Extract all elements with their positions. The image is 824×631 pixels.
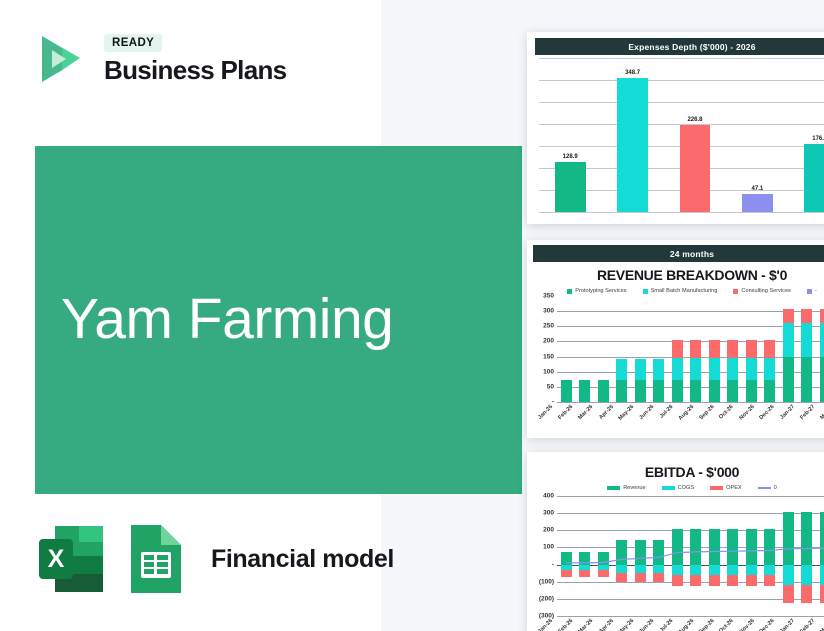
bar-segment bbox=[635, 380, 646, 402]
footer-label: Financial model bbox=[211, 545, 394, 574]
bar-segment bbox=[764, 565, 775, 576]
legend-label: Consulting Services bbox=[741, 288, 790, 294]
bar-segment bbox=[727, 380, 738, 402]
bar-segment bbox=[727, 575, 738, 586]
bar-column bbox=[798, 496, 817, 616]
legend-swatch bbox=[807, 289, 812, 294]
bar-segment bbox=[764, 340, 775, 358]
bar-column bbox=[687, 296, 706, 402]
bar-column bbox=[724, 296, 743, 402]
y-tick-label: 300 bbox=[543, 308, 554, 315]
expenses-bars: 128.9348.7226.847.1176.5 bbox=[539, 58, 824, 212]
chart-card-revenue: 24 months REVENUE BREAKDOWN - $'0 Protot… bbox=[527, 240, 824, 438]
y-tick-label: (100) bbox=[539, 578, 554, 585]
bar-segment bbox=[709, 358, 720, 380]
expenses-plot-area: 128.9348.7226.847.1176.5 bbox=[535, 58, 824, 212]
bar-segment bbox=[616, 540, 627, 565]
legend-swatch bbox=[733, 289, 738, 294]
bar-column: 348.7 bbox=[608, 58, 658, 212]
bar-segment bbox=[746, 575, 757, 586]
bar-column bbox=[576, 296, 595, 402]
revenue-bars bbox=[557, 296, 824, 402]
bar-segment bbox=[579, 570, 590, 577]
x-tick-wrap: Jan-26 bbox=[531, 618, 551, 631]
bar-segment bbox=[616, 359, 627, 380]
bar-segment bbox=[672, 380, 683, 402]
bar-segment bbox=[801, 585, 812, 603]
bar-value-label: 226.8 bbox=[687, 117, 702, 123]
bar-segment bbox=[801, 565, 812, 585]
legend-item: Small Batch Manufacturing bbox=[643, 288, 718, 294]
bar-column bbox=[742, 296, 761, 402]
bar-segment bbox=[561, 570, 572, 577]
svg-text:X: X bbox=[48, 545, 65, 573]
bar-segment bbox=[672, 340, 683, 358]
bar-segment bbox=[746, 340, 757, 358]
brand-logo-block: READY Business Plans bbox=[28, 28, 286, 90]
y-tick-label: 250 bbox=[543, 323, 554, 330]
bar-segment bbox=[746, 358, 757, 380]
bar-segment bbox=[727, 358, 738, 380]
expenses-chart-title: Expenses Depth ($'000) - 2026 bbox=[535, 38, 824, 55]
bar-segment bbox=[783, 565, 794, 585]
legend-label: Revenue bbox=[623, 485, 645, 491]
y-tick-label: 100 bbox=[543, 368, 554, 375]
revenue-band-label: 24 months bbox=[533, 245, 824, 262]
ready-badge: READY bbox=[104, 34, 162, 52]
bar-segment bbox=[820, 512, 824, 565]
y-tick-label: 100 bbox=[543, 544, 554, 551]
bar-column bbox=[613, 296, 632, 402]
legend-swatch bbox=[607, 486, 620, 490]
bar-column bbox=[613, 496, 632, 616]
ebitda-legend: RevenueCOGSOPEX0 bbox=[527, 482, 824, 493]
bar-segment bbox=[709, 380, 720, 402]
bar-segment bbox=[709, 565, 720, 576]
bar-segment bbox=[727, 565, 738, 576]
y-tick-label: 150 bbox=[543, 353, 554, 360]
legend-label: - bbox=[815, 288, 817, 294]
chart-card-ebitda: EBITDA - $'000 RevenueCOGSOPEX0 40030020… bbox=[527, 452, 824, 631]
bar-segment bbox=[820, 323, 824, 356]
bar-column bbox=[705, 496, 724, 616]
legend-label: COGS bbox=[678, 485, 694, 491]
bar-column bbox=[631, 296, 650, 402]
bar-segment bbox=[672, 358, 683, 380]
bar-segment bbox=[746, 565, 757, 576]
bar-segment bbox=[764, 380, 775, 402]
bar bbox=[555, 162, 586, 212]
play-triangle-logo-icon bbox=[28, 28, 90, 90]
legend-item: OPEX bbox=[710, 485, 742, 491]
bar-value-label: 128.9 bbox=[563, 154, 578, 160]
bar-column bbox=[576, 496, 595, 616]
bar-segment bbox=[801, 309, 812, 324]
bar bbox=[617, 78, 648, 212]
bar bbox=[742, 194, 773, 212]
ebitda-bars bbox=[557, 496, 824, 616]
bar-segment bbox=[653, 380, 664, 402]
bar-column bbox=[724, 496, 743, 616]
bar-segment bbox=[616, 573, 627, 582]
y-tick-label: 200 bbox=[543, 338, 554, 345]
bar-value-label: 176.5 bbox=[812, 136, 824, 142]
bar-segment bbox=[635, 540, 646, 565]
bar-segment bbox=[635, 565, 646, 573]
bar-segment bbox=[690, 529, 701, 564]
bar-segment bbox=[561, 552, 572, 564]
bar-segment bbox=[690, 340, 701, 358]
legend-swatch bbox=[758, 487, 771, 489]
bar-segment bbox=[764, 575, 775, 586]
y-tick-label: 300 bbox=[543, 510, 554, 517]
bar-segment bbox=[653, 359, 664, 380]
brand-name: Business Plans bbox=[104, 57, 286, 84]
bar-segment bbox=[672, 575, 683, 586]
legend-swatch bbox=[662, 486, 675, 490]
bar-column bbox=[742, 496, 761, 616]
gridline bbox=[539, 212, 824, 213]
bar-column bbox=[650, 496, 669, 616]
bar-segment bbox=[727, 529, 738, 564]
bar-segment bbox=[709, 529, 720, 564]
legend-swatch bbox=[567, 289, 572, 294]
bar-column bbox=[594, 296, 613, 402]
bar-segment bbox=[801, 357, 812, 402]
revenue-y-axis: 35030025020015010050- bbox=[531, 296, 557, 402]
legend-item: Revenue bbox=[607, 485, 645, 491]
bar-segment bbox=[820, 585, 824, 603]
bar-segment bbox=[598, 552, 609, 564]
x-tick-wrap: Jan-26 bbox=[531, 404, 551, 434]
y-tick-label: 50 bbox=[547, 383, 554, 390]
bar-segment bbox=[579, 380, 590, 402]
ebitda-plot-area: 400300200100-(100)(200)(300) bbox=[531, 496, 824, 616]
legend-item: COGS bbox=[662, 485, 694, 491]
bar-segment bbox=[672, 565, 683, 576]
bar-segment bbox=[598, 380, 609, 402]
bar-column: 47.1 bbox=[732, 58, 782, 212]
bar-column: 226.8 bbox=[670, 58, 720, 212]
bar-segment bbox=[690, 358, 701, 380]
x-tick-label: Mar-27 bbox=[819, 618, 824, 631]
y-tick-label: 200 bbox=[543, 527, 554, 534]
bar-segment bbox=[598, 570, 609, 577]
bar-segment bbox=[783, 585, 794, 603]
legend-label: 0 bbox=[774, 485, 777, 491]
y-tick-label: - bbox=[552, 561, 554, 568]
chart-card-expenses: Expenses Depth ($'000) - 2026 128.9348.7… bbox=[527, 32, 824, 224]
legend-item: Consulting Services bbox=[733, 288, 790, 294]
ebitda-chart-title: EBITDA - $'000 bbox=[527, 452, 824, 482]
bar-segment bbox=[783, 357, 794, 402]
bar-segment bbox=[690, 380, 701, 402]
bar-column bbox=[687, 496, 706, 616]
bar-segment bbox=[820, 357, 824, 402]
bar-segment bbox=[783, 512, 794, 565]
ebitda-x-axis: Jan-26Feb-26Mar-26Apr-26May-26Jun-26Jul-… bbox=[531, 618, 824, 631]
google-sheets-icon bbox=[125, 522, 187, 596]
legend-label: Small Batch Manufacturing bbox=[651, 288, 718, 294]
bar-segment bbox=[653, 540, 664, 565]
bar-segment bbox=[653, 573, 664, 582]
bar-segment bbox=[764, 358, 775, 380]
bar-column bbox=[557, 496, 576, 616]
legend-swatch bbox=[643, 289, 648, 294]
bar-column bbox=[798, 296, 817, 402]
bar-segment bbox=[579, 552, 590, 564]
bar-column bbox=[761, 496, 780, 616]
bar-column bbox=[594, 496, 613, 616]
bar-segment bbox=[690, 565, 701, 576]
brand-wordmark: READY Business Plans bbox=[104, 34, 286, 84]
legend-item: - bbox=[807, 288, 817, 294]
bar bbox=[804, 144, 824, 212]
bar-column bbox=[631, 496, 650, 616]
legend-swatch bbox=[710, 486, 723, 490]
legend-item: Prototyping Services bbox=[567, 288, 626, 294]
hero-banner: Yam Farming bbox=[35, 146, 522, 494]
bar-segment bbox=[616, 380, 627, 402]
bar-segment bbox=[801, 323, 812, 356]
bar-segment bbox=[801, 512, 812, 565]
y-tick-label: 350 bbox=[543, 293, 554, 300]
page-title: Yam Farming bbox=[35, 290, 393, 350]
bar-value-label: 47.1 bbox=[752, 186, 764, 192]
bar-segment bbox=[653, 565, 664, 573]
bar-column bbox=[761, 296, 780, 402]
revenue-plot-area: 35030025020015010050- bbox=[531, 296, 824, 402]
bar-column bbox=[668, 296, 687, 402]
bar-segment bbox=[709, 340, 720, 358]
bar-column bbox=[816, 296, 824, 402]
bar-segment bbox=[764, 529, 775, 564]
legend-label: OPEX bbox=[726, 485, 742, 491]
bar bbox=[680, 125, 711, 212]
bar-column bbox=[705, 296, 724, 402]
bar-column bbox=[779, 496, 798, 616]
revenue-x-axis: Jan-26Feb-26Mar-26Apr-26May-26Jun-26Jul-… bbox=[531, 404, 824, 434]
bar-segment bbox=[561, 380, 572, 402]
legend-label: Prototyping Services bbox=[575, 288, 626, 294]
bar-column bbox=[650, 296, 669, 402]
bar-segment bbox=[635, 359, 646, 380]
revenue-legend: Prototyping ServicesSmall Batch Manufact… bbox=[527, 285, 824, 296]
bar-column bbox=[557, 296, 576, 402]
bar-segment bbox=[709, 575, 720, 586]
bar-segment bbox=[820, 565, 824, 585]
bar-segment bbox=[746, 380, 757, 402]
bar-column bbox=[816, 496, 824, 616]
y-tick-label: 400 bbox=[543, 493, 554, 500]
bar-segment bbox=[672, 529, 683, 564]
legend-item: 0 bbox=[758, 485, 777, 491]
bar-segment bbox=[727, 340, 738, 358]
y-tick-label: (200) bbox=[539, 595, 554, 602]
bar-value-label: 348.7 bbox=[625, 70, 640, 76]
bar-segment bbox=[635, 573, 646, 582]
bar-segment bbox=[746, 529, 757, 564]
bar-segment bbox=[616, 565, 627, 573]
ebitda-y-axis: 400300200100-(100)(200)(300) bbox=[531, 496, 557, 616]
bar-segment bbox=[783, 309, 794, 324]
bar-segment bbox=[690, 575, 701, 586]
slide-canvas: READY Business Plans Yam Farming X bbox=[0, 0, 824, 631]
footer-block: X Financial model bbox=[35, 522, 394, 596]
bar-column: 128.9 bbox=[545, 58, 595, 212]
bar-column bbox=[668, 496, 687, 616]
bar-column bbox=[779, 296, 798, 402]
bar-column: 176.5 bbox=[795, 58, 824, 212]
microsoft-excel-icon: X bbox=[35, 522, 107, 596]
revenue-chart-title: REVENUE BREAKDOWN - $'0 bbox=[527, 262, 824, 285]
bar-segment bbox=[820, 309, 824, 324]
bar-segment bbox=[783, 323, 794, 356]
